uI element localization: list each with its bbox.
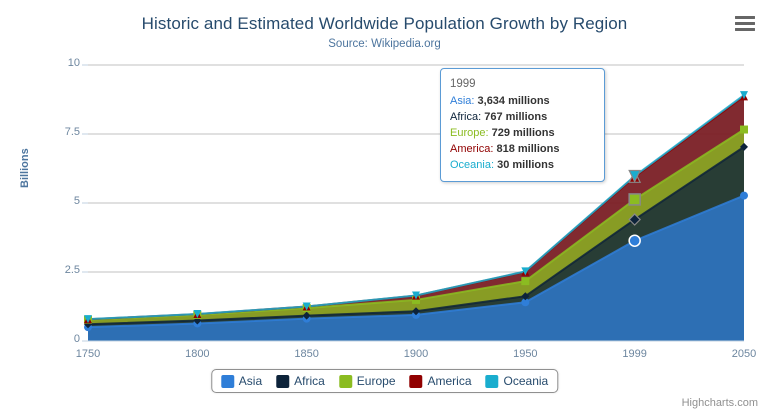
- tooltip: 1999 Asia: 3,634 millionsAfrica: 767 mil…: [440, 68, 605, 182]
- y-axis-tick-label: 5: [36, 195, 80, 207]
- tooltip-series-value: 818 millions: [496, 143, 559, 155]
- x-axis-tick-label: 1750: [58, 348, 118, 360]
- data-point-marker[interactable]: [629, 194, 640, 205]
- tooltip-row: Europe: 729 millions: [450, 125, 595, 141]
- tooltip-series-name: Asia:: [450, 95, 478, 107]
- data-point-marker[interactable]: [629, 235, 640, 246]
- y-axis-tick-label: 2.5: [36, 264, 80, 276]
- tooltip-series-name: Oceania:: [450, 159, 497, 171]
- legend-item-africa[interactable]: Africa: [276, 374, 325, 388]
- tooltip-series-name: Africa:: [450, 111, 484, 123]
- tooltip-row: Asia: 3,634 millions: [450, 93, 595, 109]
- x-axis-tick-label: 1900: [386, 348, 446, 360]
- legend-item-europe[interactable]: Europe: [339, 374, 396, 388]
- tooltip-row: America: 818 millions: [450, 141, 595, 157]
- legend-item-label: Asia: [239, 374, 262, 388]
- tooltip-series-value: 767 millions: [484, 111, 547, 123]
- legend-item-label: Africa: [294, 374, 325, 388]
- x-axis-tick-label: 2050: [714, 348, 769, 360]
- legend-item-label: Europe: [357, 374, 396, 388]
- y-axis-tick-label: 0: [36, 333, 80, 345]
- highcharts-container: Historic and Estimated Worldwide Populat…: [0, 0, 769, 416]
- legend-item-oceania[interactable]: Oceania: [486, 374, 549, 388]
- tooltip-series-name: America:: [450, 143, 496, 155]
- data-point-marker[interactable]: [740, 192, 748, 200]
- y-axis-tick-label: 10: [36, 57, 80, 69]
- legend-swatch-icon: [339, 375, 352, 388]
- x-axis-tick-label: 1999: [605, 348, 665, 360]
- x-axis-tick-label: 1950: [495, 348, 555, 360]
- tooltip-header: 1999: [450, 76, 595, 92]
- tooltip-series-value: 3,634 millions: [478, 95, 550, 107]
- data-point-marker[interactable]: [740, 126, 748, 134]
- y-axis-tick-label: 7.5: [36, 126, 80, 138]
- tooltip-row: Oceania: 30 millions: [450, 157, 595, 173]
- x-axis-tick-label: 1800: [167, 348, 227, 360]
- tooltip-row: Africa: 767 millions: [450, 109, 595, 125]
- legend-item-label: America: [428, 374, 472, 388]
- tooltip-series-name: Europe:: [450, 127, 492, 139]
- tooltip-series-value: 729 millions: [492, 127, 555, 139]
- series-areas: [88, 95, 744, 341]
- legend-swatch-icon: [410, 375, 423, 388]
- data-point-marker[interactable]: [521, 277, 529, 285]
- credits-link[interactable]: Highcharts.com: [682, 397, 758, 409]
- legend-swatch-icon: [276, 375, 289, 388]
- legend-item-asia[interactable]: Asia: [221, 374, 262, 388]
- x-axis-tick-label: 1850: [277, 348, 337, 360]
- legend: AsiaAfricaEuropeAmericaOceania: [211, 369, 558, 393]
- legend-swatch-icon: [486, 375, 499, 388]
- legend-item-label: Oceania: [504, 374, 549, 388]
- y-tick-marks: [82, 65, 88, 341]
- legend-swatch-icon: [221, 375, 234, 388]
- tooltip-series-value: 30 millions: [497, 159, 554, 171]
- tooltip-rows: Asia: 3,634 millionsAfrica: 767 millions…: [450, 93, 595, 173]
- legend-item-america[interactable]: America: [410, 374, 472, 388]
